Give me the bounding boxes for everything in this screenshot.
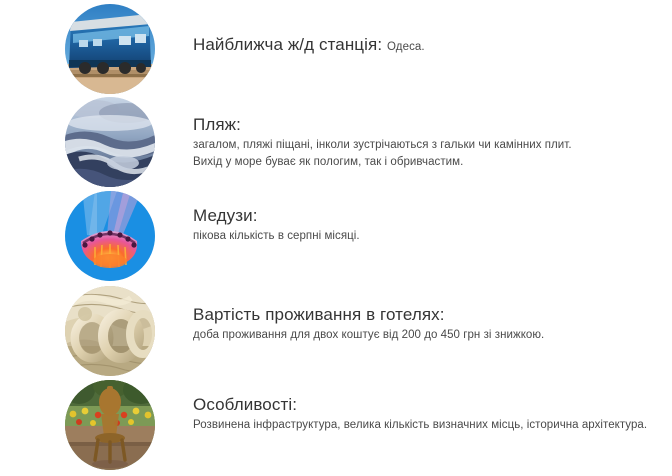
section-heading: Вартість проживання в готелях: <box>193 304 663 325</box>
section-text: Пляж: загалом, пляжі піщані, інколи зуст… <box>193 114 663 170</box>
list-item: Вартість проживання в готелях: доба прож… <box>0 286 672 378</box>
list-item: Медузи: пікова кількість в серпні місяці… <box>0 191 672 283</box>
section-heading: Медузи: <box>193 205 663 226</box>
section-text: Особливості: Розвинена інфраструктура, в… <box>193 394 663 434</box>
section-heading: Пляж: <box>193 114 663 135</box>
section-line: Вихід у море буває як пологим, так і обр… <box>193 154 663 171</box>
section-inline-value: Одеса. <box>387 41 425 53</box>
section-text: Найближча ж/д станція: Одеса. <box>193 34 663 58</box>
info-list: Найближча ж/д станція: Одеса. <box>0 0 672 476</box>
list-item: Пляж: загалом, пляжі піщані, інколи зуст… <box>0 97 672 189</box>
jellyfish-icon <box>65 191 155 281</box>
section-line: Розвинена інфраструктура, велика кількіс… <box>193 417 663 434</box>
section-line: доба проживання для двох коштує від 200 … <box>193 327 663 344</box>
section-heading: Найближча ж/д станція: Одеса. <box>193 34 663 58</box>
section-text: Медузи: пікова кількість в серпні місяці… <box>193 205 663 245</box>
money-banknotes-icon <box>65 286 155 376</box>
section-line: пікова кількість в серпні місяці. <box>193 228 663 245</box>
section-heading: Особливості: <box>193 394 663 415</box>
section-text: Вартість проживання в готелях: доба прож… <box>193 304 663 344</box>
beach-waves-icon <box>65 97 155 187</box>
park-chair-monument-icon <box>65 380 155 470</box>
section-line: загалом, пляжі піщані, інколи зустрічают… <box>193 137 663 154</box>
list-item: Найближча ж/д станція: Одеса. <box>0 4 672 96</box>
train-icon <box>65 4 155 94</box>
list-item: Особливості: Розвинена інфраструктура, в… <box>0 380 672 472</box>
